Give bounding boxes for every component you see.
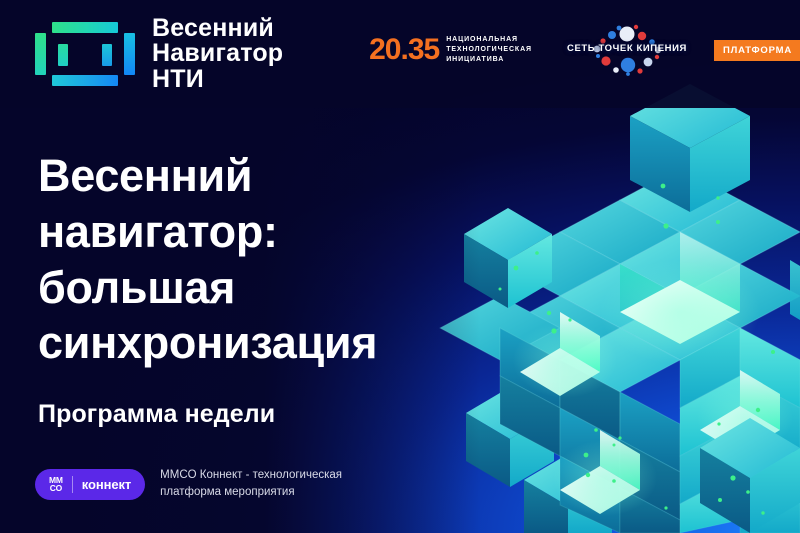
nti-logo-line-3: НТИ	[152, 67, 283, 93]
boiling-points-label: СЕТЬ ТОЧЕК КИПЕНИЯ	[562, 43, 692, 54]
partner-logo-bar: 20.35 НАЦИОНАЛЬНАЯ ТЕХНОЛОГИЧЕСКАЯ ИНИЦИ…	[369, 22, 800, 78]
logo-dot-left	[58, 44, 68, 66]
page-title: Весенний навигатор: большая синхронизаци…	[38, 148, 438, 371]
boiling-points-logo[interactable]: СЕТЬ ТОЧЕК КИПЕНИЯ	[562, 22, 692, 78]
logo-bar-right	[124, 33, 135, 75]
mmco-wordmark: коннект	[82, 477, 131, 492]
title-line-2: навигатор:	[38, 204, 438, 260]
logo-bar-top	[52, 22, 118, 33]
footer-description-line-2: платформа мероприятия	[160, 484, 342, 501]
page-subtitle: Программа недели	[38, 400, 275, 429]
nti-2035-logo[interactable]: 20.35 НАЦИОНАЛЬНАЯ ТЕХНОЛОГИЧЕСКАЯ ИНИЦИ…	[369, 35, 532, 65]
nti-2035-word-1: НАЦИОНАЛЬНАЯ	[446, 36, 532, 44]
mmco-monogram-icon: MM CO	[49, 476, 63, 493]
title-line-1: Весенний	[38, 148, 438, 204]
footer-description: MMCO Коннект - технологическая платформа…	[160, 467, 342, 502]
nti-logo-line-2: Навигатор	[152, 41, 283, 67]
mmco-monogram-line-2: CO	[50, 484, 62, 492]
title-line-3: большая	[38, 260, 438, 316]
logo-bar-bottom	[52, 75, 118, 86]
mmco-divider	[72, 476, 73, 493]
nti-2035-word-2: ТЕХНОЛОГИЧЕСКАЯ	[446, 46, 532, 54]
nti-logo-line-1: Весенний	[152, 16, 283, 42]
mmco-connect-logo[interactable]: MM CO коннект	[35, 469, 145, 500]
logo-bar-left	[35, 33, 46, 75]
title-line-4: синхронизация	[38, 315, 438, 371]
nti-2035-number: 20.35	[369, 35, 439, 65]
nti-2035-word-3: ИНИЦИАТИВА	[446, 56, 532, 64]
nti-logo-wordmark: Весенний Навигатор НТИ	[152, 16, 283, 93]
footer: MM CO коннект MMCO Коннект - технологиче…	[35, 467, 342, 502]
logo-dot-right	[102, 44, 112, 66]
nti-2035-wordmark: НАЦИОНАЛЬНАЯ ТЕХНОЛОГИЧЕСКАЯ ИНИЦИАТИВА	[446, 36, 532, 64]
footer-description-line-1: MMCO Коннект - технологическая	[160, 467, 342, 484]
nti-navigator-logo[interactable]: Весенний Навигатор НТИ	[30, 14, 283, 94]
promo-banner: Весенний Навигатор НТИ 20.35 НАЦИОНАЛЬНА…	[0, 0, 800, 533]
platform-badge[interactable]: ПЛАТФОРМА	[714, 40, 800, 61]
nti-bracket-icon	[30, 14, 138, 94]
